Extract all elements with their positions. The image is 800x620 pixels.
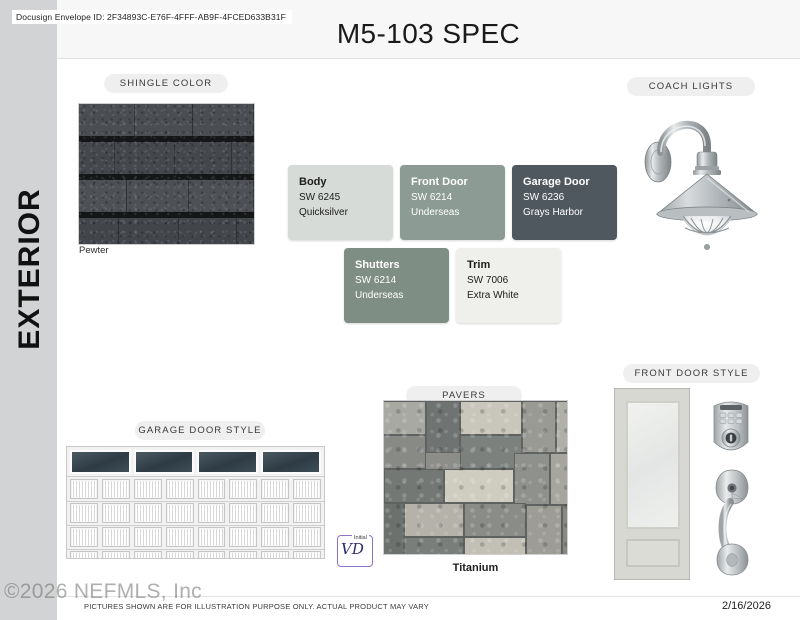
header-divider xyxy=(57,58,800,59)
garage-window xyxy=(70,450,131,474)
pill-coach-lights: COACH LIGHTS xyxy=(627,77,755,96)
spec-sheet: EXTERIOR M5-103 SPEC Docusign Envelope I… xyxy=(0,0,800,620)
garage-window xyxy=(261,450,322,474)
pill-front-door-style: FRONT DOOR STYLE xyxy=(623,364,760,383)
date-stamp: 2/16/2026 xyxy=(722,600,771,612)
shingle-caption: Pewter xyxy=(79,245,109,256)
garage-panel-row xyxy=(70,527,321,547)
pavers-caption: Titanium xyxy=(383,562,568,574)
door-slab xyxy=(614,388,690,580)
pill-shingle-color: SHINGLE COLOR xyxy=(104,74,228,93)
mls-watermark: ©2026 NEFMLS, Inc xyxy=(4,580,202,604)
garage-door-image xyxy=(66,446,325,559)
garage-panel-row xyxy=(70,479,321,499)
garage-panel-row xyxy=(70,503,321,523)
door-handleset-image xyxy=(710,468,754,578)
pill-garage-door-style: GARAGE DOOR STYLE xyxy=(135,421,265,440)
swatch-color-name: Grays Harbor xyxy=(523,205,617,220)
docusign-initial-mark: VD xyxy=(341,540,364,558)
section-label-exterior: EXTERIOR xyxy=(13,179,47,359)
swatch-code: SW 6214 xyxy=(355,273,449,288)
swatch-code: SW 7006 xyxy=(467,273,561,288)
swatch-card-trim: Trim SW 7006 Extra White xyxy=(456,248,561,323)
swatch-name: Shutters xyxy=(355,258,449,273)
swatch-name: Trim xyxy=(467,258,561,273)
garage-window xyxy=(197,450,258,474)
garage-window-row xyxy=(70,450,321,474)
keypad-deadbolt-image xyxy=(708,398,754,458)
door-bottom-panel xyxy=(626,539,680,567)
swatch-code: SW 6236 xyxy=(523,190,617,205)
shingle-texture xyxy=(79,104,254,244)
docusign-envelope-id: Docusign Envelope ID: 2F34893C-E76F-4FFF… xyxy=(12,10,292,24)
door-glass-lite xyxy=(626,401,680,529)
swatch-card-garage-door: Garage Door SW 6236 Grays Harbor xyxy=(512,165,617,240)
swatch-color-name: Underseas xyxy=(355,288,449,303)
swatch-name: Front Door xyxy=(411,175,505,190)
swatch-color-name: Underseas xyxy=(411,205,505,220)
swatch-color-name: Extra White xyxy=(467,288,561,303)
swatch-name: Body xyxy=(299,175,393,190)
swatch-card-shutters: Shutters SW 6214 Underseas xyxy=(344,248,449,323)
front-door-image xyxy=(614,388,800,592)
garage-panel-row xyxy=(70,551,321,559)
shingle-swatch-image xyxy=(78,103,255,245)
swatch-color-name: Quicksilver xyxy=(299,205,393,220)
swatch-name: Garage Door xyxy=(523,175,617,190)
swatch-card-body: Body SW 6245 Quicksilver xyxy=(288,165,393,240)
left-rail: EXTERIOR xyxy=(0,0,57,620)
swatch-code: SW 6245 xyxy=(299,190,393,205)
swatch-code: SW 6214 xyxy=(411,190,505,205)
swatch-card-front-door: Front Door SW 6214 Underseas xyxy=(400,165,505,240)
coach-light-image xyxy=(631,104,771,252)
pavers-image xyxy=(383,400,568,555)
garage-window xyxy=(134,450,195,474)
